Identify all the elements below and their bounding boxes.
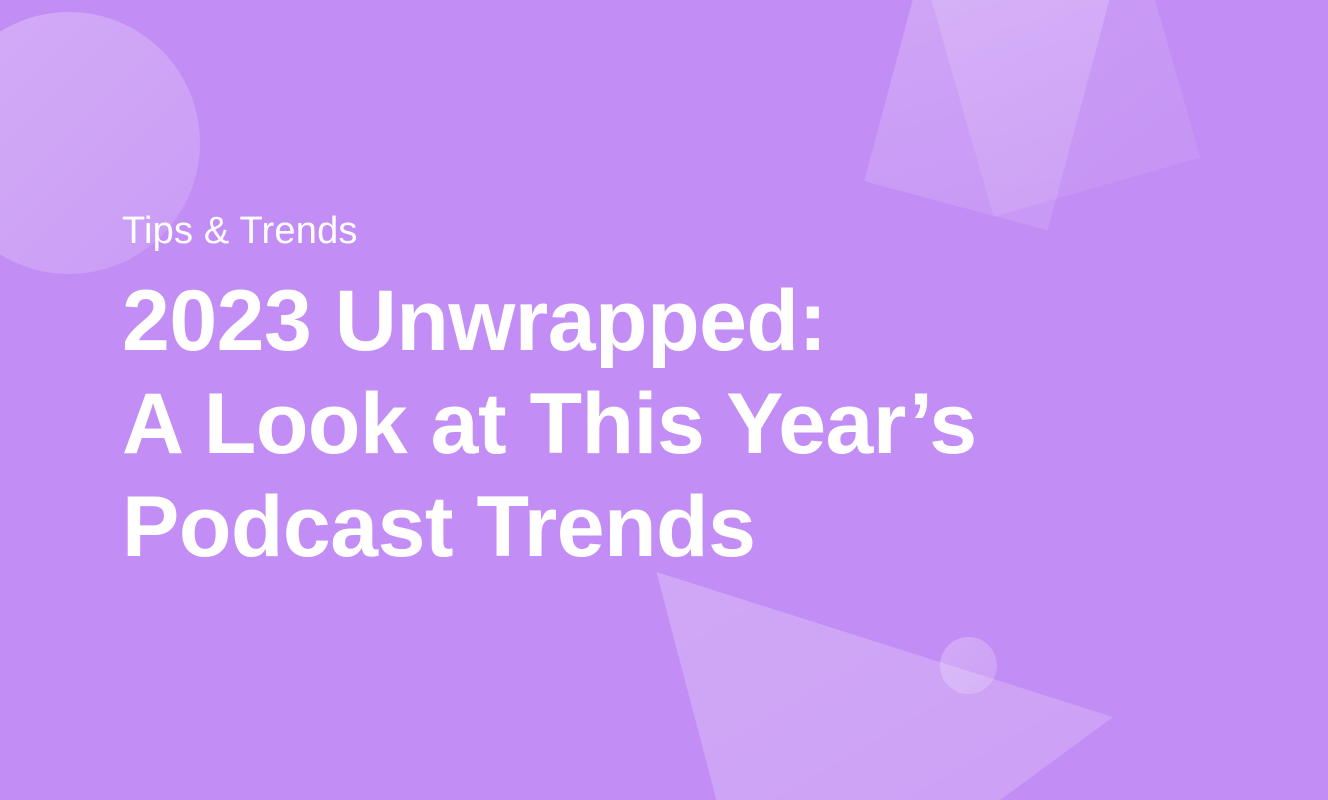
page-title: 2023 Unwrapped: A Look at This Year’s Po… [122,270,1222,579]
headline-line-1: 2023 Unwrapped: [122,270,1222,373]
circle-small-icon [940,637,997,694]
banner-content: Tips & Trends 2023 Unwrapped: A Look at … [122,206,1222,579]
headline-line-2: A Look at This Year’s [122,373,1222,476]
promo-banner: Tips & Trends 2023 Unwrapped: A Look at … [0,0,1328,800]
rectangle-back-icon [925,0,1201,217]
headline-line-3: Podcast Trends [122,476,1222,579]
triangle-icon [600,540,1200,800]
banner-eyebrow: Tips & Trends [122,206,1222,256]
rectangle-front-icon [864,0,1112,230]
